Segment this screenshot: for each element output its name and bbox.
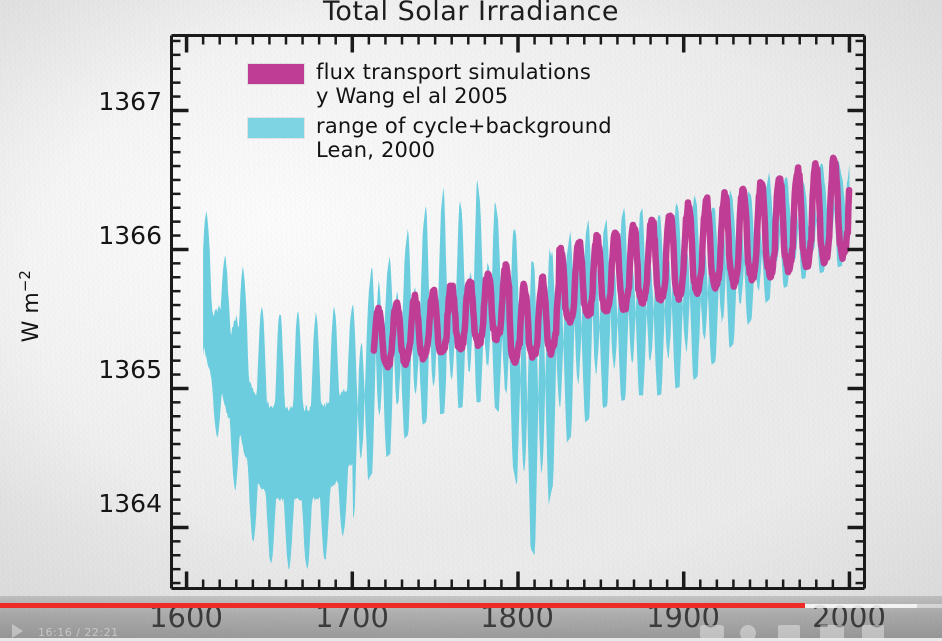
y-tick-label: 1364 <box>72 489 162 518</box>
legend-swatch-range-band <box>248 118 304 138</box>
chart-legend: flux transport simulations y Wang el al … <box>248 60 668 168</box>
y-axis-title: W m−2 <box>16 241 44 371</box>
legend-label-line1: range of cycle+background <box>316 114 612 138</box>
captions-icon[interactable] <box>700 625 724 639</box>
legend-label-flux-transport: flux transport simulations y Wang el al … <box>316 60 591 108</box>
y-axis-tick-labels: 1367 1366 1365 1364 <box>62 0 162 638</box>
settings-icon[interactable] <box>740 625 756 641</box>
legend-label-line2: y Wang el al 2005 <box>316 84 591 108</box>
progress-played[interactable] <box>0 603 805 608</box>
legend-item: flux transport simulations y Wang el al … <box>248 60 668 108</box>
y-tick-label: 1366 <box>72 221 162 250</box>
video-frame: Total Solar Irradiance W m−2 1367 1366 1… <box>0 0 942 638</box>
legend-label-line2: Lean, 2000 <box>316 138 612 162</box>
legend-label-line1: flux transport simulations <box>316 60 591 84</box>
timecode-label: 16:16 / 22:21 <box>38 626 119 639</box>
legend-label-range-band: range of cycle+background Lean, 2000 <box>316 114 612 162</box>
y-tick-label: 1367 <box>72 87 162 116</box>
range-band-lean-2000 <box>203 161 849 570</box>
legend-item: range of cycle+background Lean, 2000 <box>248 114 668 162</box>
legend-swatch-flux-transport <box>248 64 304 84</box>
play-icon[interactable] <box>12 624 23 638</box>
y-tick-label: 1365 <box>72 355 162 384</box>
